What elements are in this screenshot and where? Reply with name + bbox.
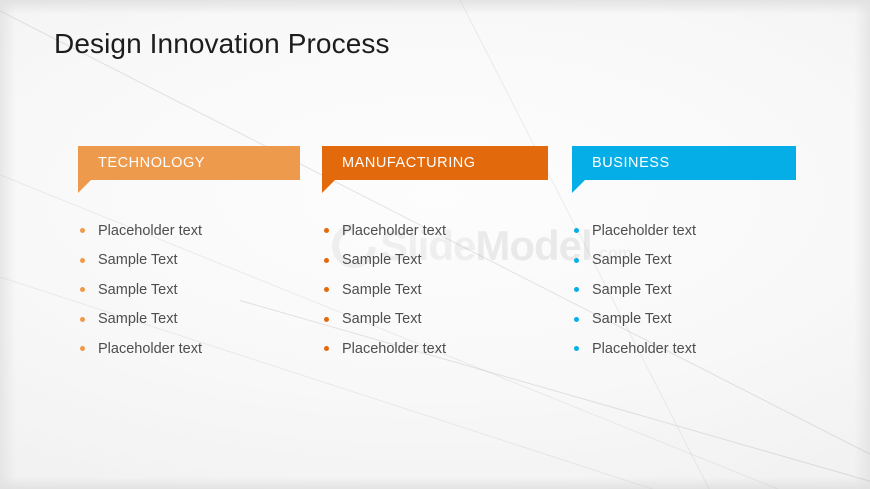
bullet-dot-icon bbox=[80, 258, 85, 263]
list-item-label: Sample Text bbox=[98, 311, 178, 327]
list-item-label: Sample Text bbox=[98, 252, 178, 268]
list-item[interactable]: Sample Text bbox=[324, 305, 554, 335]
bullet-dot-icon bbox=[574, 346, 579, 351]
bullet-dot-icon bbox=[574, 317, 579, 322]
list-item[interactable]: Placeholder text bbox=[80, 216, 310, 246]
list-item[interactable]: Sample Text bbox=[80, 246, 310, 276]
banner-label: BUSINESS bbox=[592, 155, 670, 171]
column-technology: TECHNOLOGYPlaceholder textSample TextSam… bbox=[78, 146, 300, 180]
list-item[interactable]: Placeholder text bbox=[574, 216, 804, 246]
bullet-list-manufacturing: Placeholder textSample TextSample TextSa… bbox=[324, 216, 554, 364]
list-item[interactable]: Sample Text bbox=[574, 305, 804, 335]
list-item-label: Placeholder text bbox=[592, 341, 696, 357]
list-item-label: Placeholder text bbox=[98, 341, 202, 357]
list-item[interactable]: Sample Text bbox=[574, 275, 804, 305]
list-item-label: Sample Text bbox=[592, 311, 672, 327]
bullet-dot-icon bbox=[574, 228, 579, 233]
list-item[interactable]: Sample Text bbox=[324, 246, 554, 276]
list-item-label: Sample Text bbox=[98, 282, 178, 298]
bullet-dot-icon bbox=[80, 346, 85, 351]
bullet-dot-icon bbox=[324, 228, 329, 233]
page-title: Design Innovation Process bbox=[54, 28, 390, 60]
bullet-dot-icon bbox=[574, 287, 579, 292]
bullet-dot-icon bbox=[324, 317, 329, 322]
list-item[interactable]: Placeholder text bbox=[80, 334, 310, 364]
list-item[interactable]: Sample Text bbox=[574, 246, 804, 276]
list-item[interactable]: Placeholder text bbox=[574, 334, 804, 364]
bullet-dot-icon bbox=[80, 287, 85, 292]
list-item[interactable]: Placeholder text bbox=[324, 216, 554, 246]
column-business: BUSINESSPlaceholder textSample TextSampl… bbox=[572, 146, 796, 180]
list-item-label: Placeholder text bbox=[592, 223, 696, 239]
bullet-list-business: Placeholder textSample TextSample TextSa… bbox=[574, 216, 804, 364]
list-item-label: Placeholder text bbox=[342, 341, 446, 357]
banner-manufacturing[interactable]: MANUFACTURING bbox=[322, 146, 548, 180]
banner-tail-business bbox=[572, 180, 585, 193]
list-item[interactable]: Placeholder text bbox=[324, 334, 554, 364]
banner-tail-manufacturing bbox=[322, 180, 335, 193]
banner-label: MANUFACTURING bbox=[342, 155, 476, 171]
bullet-dot-icon bbox=[574, 258, 579, 263]
list-item-label: Placeholder text bbox=[342, 223, 446, 239]
banner-technology[interactable]: TECHNOLOGY bbox=[78, 146, 300, 180]
bullet-dot-icon bbox=[324, 346, 329, 351]
list-item-label: Placeholder text bbox=[98, 223, 202, 239]
banner-label: TECHNOLOGY bbox=[98, 155, 205, 171]
list-item[interactable]: Sample Text bbox=[324, 275, 554, 305]
bullet-dot-icon bbox=[324, 258, 329, 263]
bullet-dot-icon bbox=[80, 317, 85, 322]
banner-business[interactable]: BUSINESS bbox=[572, 146, 796, 180]
slide-canvas: Slide Model .com Design Innovation Proce… bbox=[0, 0, 870, 489]
list-item-label: Sample Text bbox=[342, 311, 422, 327]
list-item-label: Sample Text bbox=[592, 252, 672, 268]
banner-tail-technology bbox=[78, 180, 91, 193]
bullet-dot-icon bbox=[324, 287, 329, 292]
list-item[interactable]: Sample Text bbox=[80, 275, 310, 305]
list-item-label: Sample Text bbox=[592, 282, 672, 298]
bullet-dot-icon bbox=[80, 228, 85, 233]
list-item[interactable]: Sample Text bbox=[80, 305, 310, 335]
bullet-list-technology: Placeholder textSample TextSample TextSa… bbox=[80, 216, 310, 364]
list-item-label: Sample Text bbox=[342, 252, 422, 268]
list-item-label: Sample Text bbox=[342, 282, 422, 298]
column-manufacturing: MANUFACTURINGPlaceholder textSample Text… bbox=[322, 146, 548, 180]
